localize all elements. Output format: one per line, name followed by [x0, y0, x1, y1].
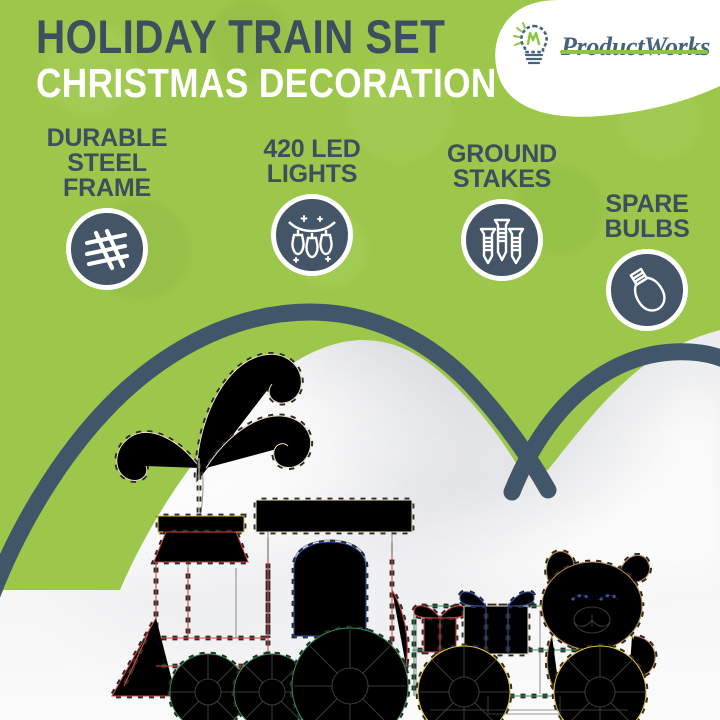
feature-label: SPARE BULBS — [577, 192, 717, 242]
string-lights-icon — [271, 194, 353, 276]
feature-label: DURABLE STEEL FRAME — [22, 126, 192, 201]
product-image-train: .w {fill:none;stroke:#585a5c;stroke-widt… — [0, 318, 720, 720]
feature-spare-bulbs[interactable]: SPARE BULBS — [577, 192, 717, 331]
gift-car — [412, 552, 655, 720]
feature-ground-stakes[interactable]: GROUND STAKES — [418, 142, 586, 281]
christmas-bulb-icon — [606, 249, 688, 331]
feature-label: GROUND STAKES — [418, 142, 586, 192]
lightbulb-gear-icon — [512, 20, 554, 73]
crossed-steel-bars-icon — [66, 208, 148, 290]
brand-logo[interactable]: ProductWorks — [478, 0, 720, 120]
infographic-canvas: HOLIDAY TRAIN SET CHRISTMAS DECORATION — [0, 0, 720, 720]
page-title: HOLIDAY TRAIN SET — [36, 14, 497, 59]
ground-stakes-icon — [461, 199, 543, 281]
feature-durable-steel-frame[interactable]: DURABLE STEEL FRAME — [22, 126, 192, 290]
locomotive-wheels — [170, 628, 408, 720]
locomotive — [112, 500, 412, 720]
logo-wordmark: ProductWorks — [561, 34, 710, 60]
page-subtitle: CHRISTMAS DECORATION — [36, 63, 497, 105]
feature-led-lights[interactable]: 420 LED LIGHTS — [232, 137, 392, 276]
smoke-swirls — [117, 354, 311, 514]
feature-label: 420 LED LIGHTS — [232, 137, 392, 187]
logo-underline-accent — [560, 50, 708, 54]
gift-car-wheels — [418, 646, 646, 720]
